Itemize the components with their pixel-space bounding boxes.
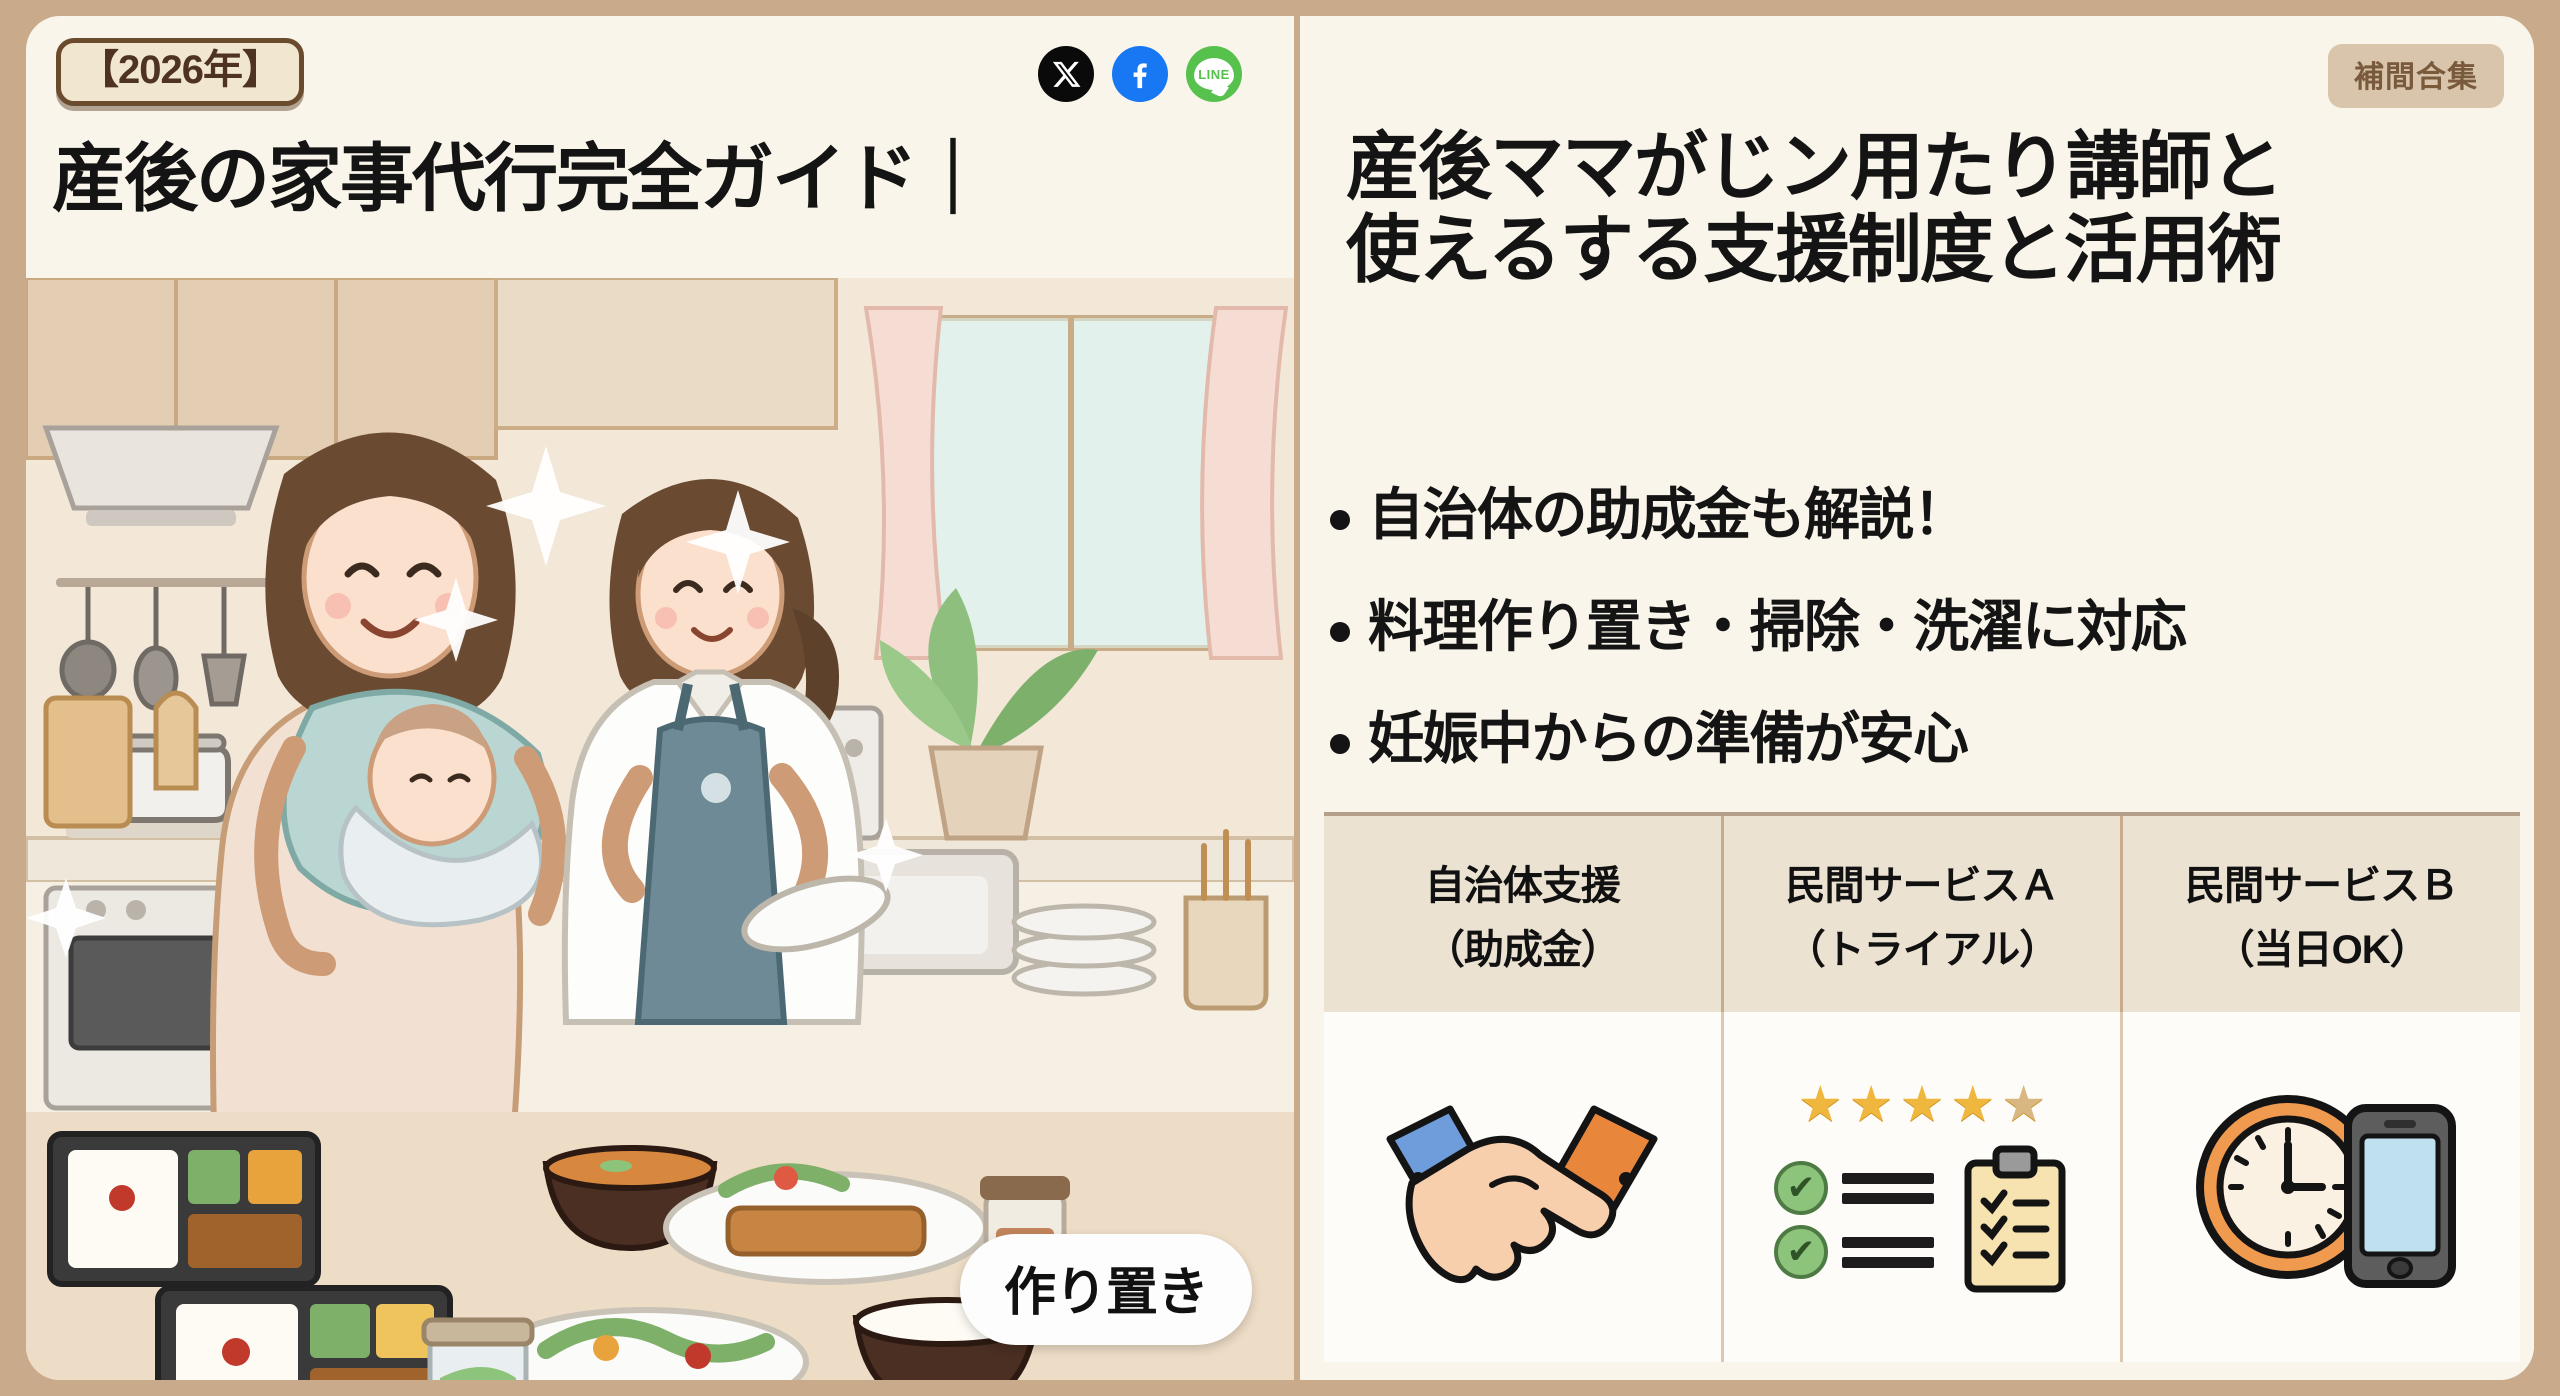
column-title: 自治体支援 — [1425, 853, 1620, 911]
kitchen-illustration — [26, 278, 1294, 1380]
line-bubble-icon: LINE — [1194, 58, 1234, 90]
bullet-text: 妊娠中からの準備が安心 — [1368, 706, 1968, 772]
right-panel: 産後ママがじン用たり講師と 使えるする支援制度と活用術 自治体の助成金も解説！ … — [1300, 278, 2534, 1380]
star-icon: ★ — [1950, 1079, 1995, 1129]
headline-line-2: 使えるする支援制度と活用術 — [1346, 209, 2526, 292]
page-title-left: 産後の家事代行完全ガイド｜ — [52, 142, 988, 216]
line-placeholder — [1842, 1237, 1934, 1268]
check-circle-icon: ✔ — [1774, 1225, 1828, 1279]
line-placeholder — [1842, 1173, 1934, 1204]
column-subtitle: （助成金） — [1425, 917, 1620, 975]
table-header-row: 自治体支援 （助成金） 民間サービスＡ （トライアル） 民間サービスＢ （当日O… — [1324, 816, 2520, 1012]
make-ahead-caption-pill: 作り置き — [960, 1234, 1252, 1345]
x-icon[interactable] — [1038, 46, 1094, 102]
headline-line-1: 産後ママがじン用たり講師と — [1346, 126, 2526, 209]
star-icon: ★ — [1798, 1079, 1843, 1129]
list-item: 料理作り置き・掃除・洗濯に対応 — [1330, 594, 2520, 660]
table-column-header: 民間サービスＢ （当日OK） — [2123, 816, 2520, 1012]
bullet-dot-icon — [1330, 622, 1350, 642]
page-title-right: 産後ママがじン用たり講師と 使えるする支援制度と活用術 — [1346, 126, 2526, 292]
check-row: ✔ — [1774, 1161, 1934, 1215]
bullet-dot-icon — [1330, 734, 1350, 754]
infographic-poster: 【2026年】 LINE 補間合集 — [0, 0, 2560, 1396]
bullet-list: 自治体の助成金も解説！ 料理作り置き・掃除・洗濯に対応 妊娠中からの準備が安心 — [1330, 482, 2520, 818]
facebook-icon[interactable] — [1112, 46, 1168, 102]
star-rating: ★ ★ ★ ★ ★ — [1798, 1079, 2046, 1129]
column-subtitle: （トライアル） — [1786, 917, 2059, 975]
poster-card: 【2026年】 LINE 補間合集 — [26, 16, 2534, 1380]
line-label: LINE — [1198, 67, 1230, 82]
clipboard-icon — [1960, 1145, 2070, 1295]
table-cell — [1324, 1012, 1724, 1362]
list-item: 妊娠中からの準備が安心 — [1330, 706, 2520, 772]
checklist-marks: ✔ ✔ — [1774, 1151, 1934, 1289]
column-title: 民間サービスＡ — [1786, 853, 2059, 911]
star-icon: ★ — [1849, 1079, 1894, 1129]
table-icon-row: ★ ★ ★ ★ ★ ✔ — [1324, 1012, 2520, 1362]
bullet-text: 自治体の助成金も解説！ — [1368, 482, 1968, 548]
year-badge: 【2026年】 — [56, 38, 304, 106]
table-cell: ★ ★ ★ ★ ★ ✔ — [1724, 1012, 2124, 1362]
table-column-header: 自治体支援 （助成金） — [1324, 816, 1724, 1012]
star-icon-faded: ★ — [2001, 1079, 2046, 1129]
social-share-bar[interactable]: LINE — [1038, 46, 1242, 102]
illustration-svg — [26, 278, 1294, 1380]
tag-badge: 補間合集 — [2328, 44, 2504, 108]
check-row: ✔ — [1774, 1225, 1934, 1279]
handshake-icon — [1372, 1087, 1672, 1287]
table-cell — [2123, 1012, 2520, 1362]
column-title: 民間サービスＢ — [2185, 853, 2458, 911]
table-column-header: 民間サービスＡ （トライアル） — [1724, 816, 2124, 1012]
comparison-table: 自治体支援 （助成金） 民間サービスＡ （トライアル） 民間サービスＢ （当日O… — [1324, 812, 2520, 1358]
column-subtitle: （当日OK） — [2215, 917, 2429, 975]
clock-smartphone-icon — [2172, 1082, 2472, 1292]
bullet-dot-icon — [1330, 510, 1350, 530]
star-icon: ★ — [1900, 1079, 1945, 1129]
bullet-text: 料理作り置き・掃除・洗濯に対応 — [1368, 594, 2186, 660]
line-icon[interactable]: LINE — [1186, 46, 1242, 102]
list-item: 自治体の助成金も解説！ — [1330, 482, 2520, 548]
check-circle-icon: ✔ — [1774, 1161, 1828, 1215]
